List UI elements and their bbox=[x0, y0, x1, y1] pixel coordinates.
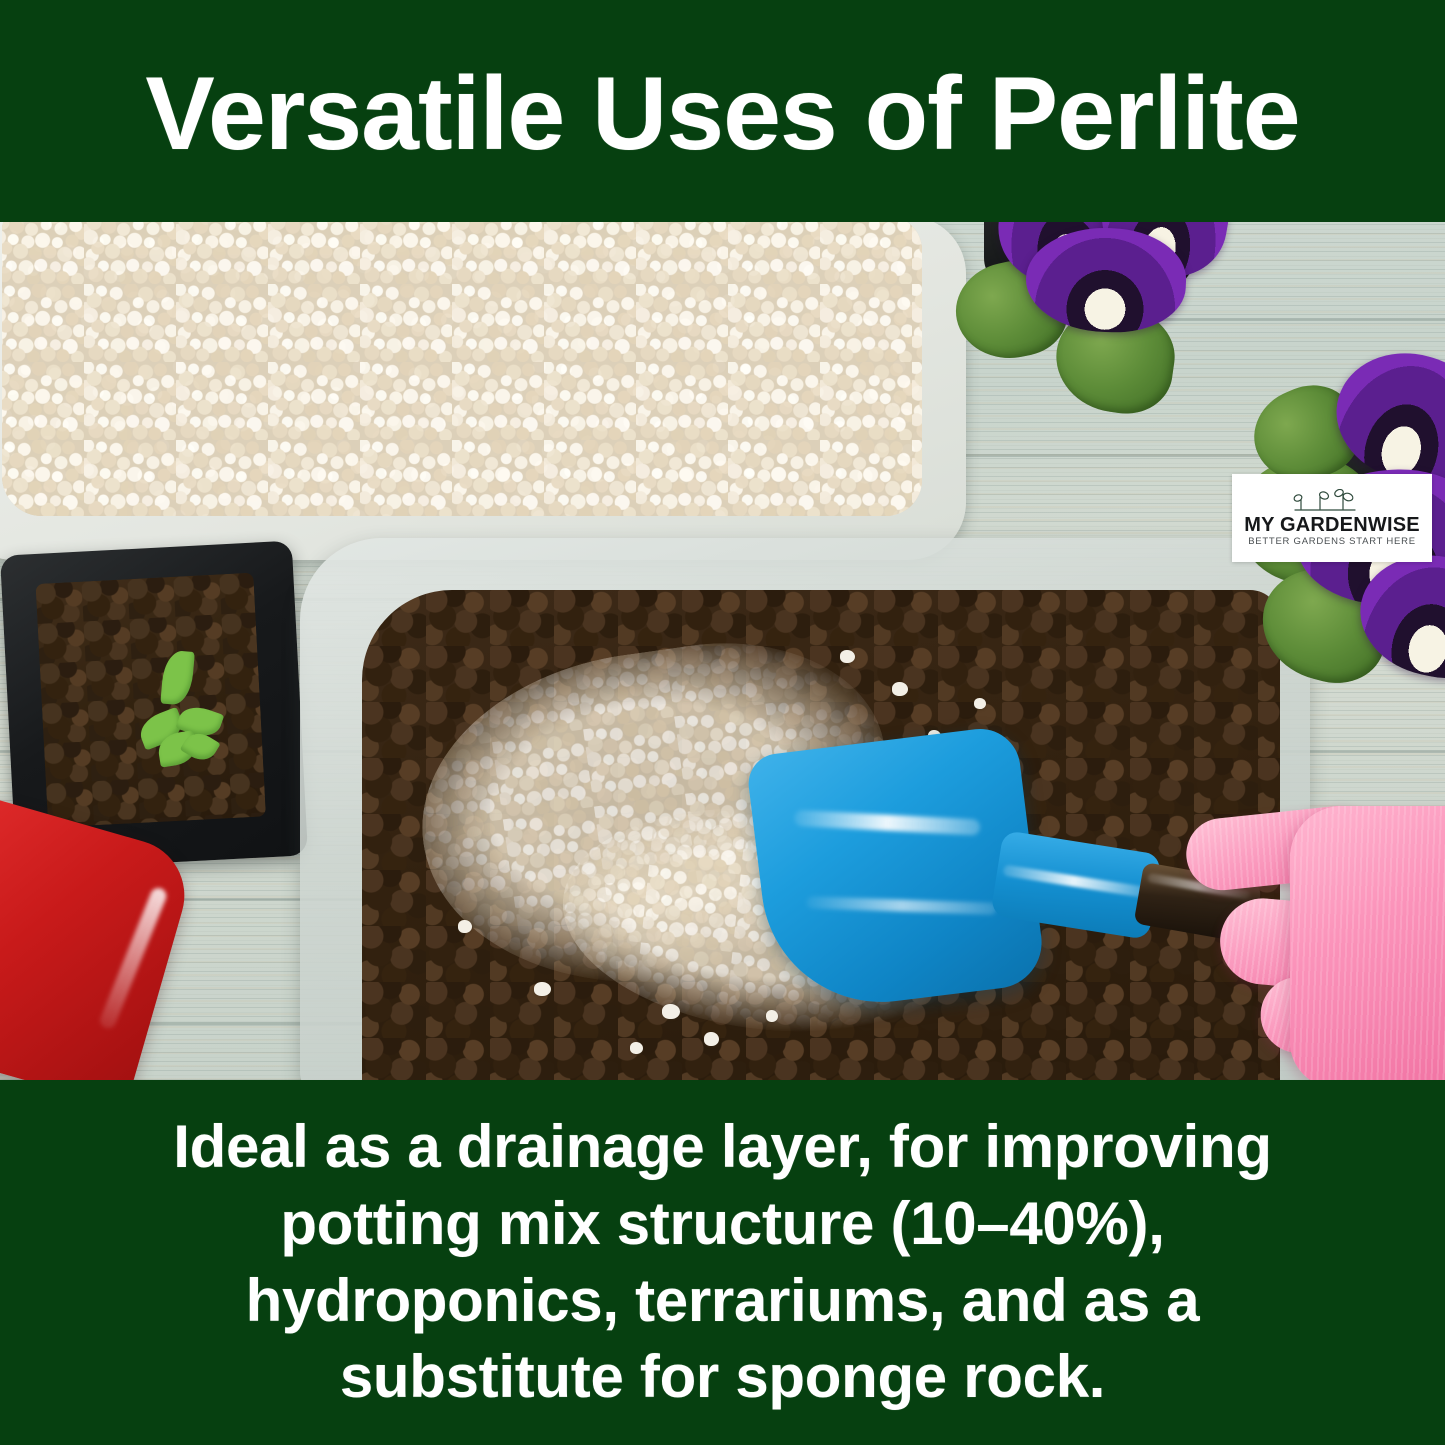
caption-text: Ideal as a drainage layer, for improving… bbox=[103, 1109, 1343, 1416]
perlite-tray bbox=[0, 222, 966, 560]
perlite-speck bbox=[974, 698, 986, 709]
pink-glove bbox=[1186, 798, 1445, 1080]
three-sprouts-icon bbox=[1293, 489, 1371, 513]
perlite-speck bbox=[704, 1032, 719, 1046]
perlite-texture-fine bbox=[2, 222, 922, 516]
page-title: Versatile Uses of Perlite bbox=[145, 56, 1299, 166]
caption-band: Ideal as a drainage layer, for improving… bbox=[0, 1080, 1445, 1445]
perlite-speck bbox=[892, 682, 908, 696]
logo-tagline: BETTER GARDENS START HERE bbox=[1248, 537, 1416, 547]
perlite-speck bbox=[534, 982, 551, 996]
perlite-infographic: Versatile Uses of Perlite bbox=[0, 0, 1445, 1445]
photo-panel: MY GARDENWISE BETTER GARDENS START HERE bbox=[0, 222, 1445, 1080]
perlite-speck bbox=[630, 1042, 643, 1054]
blue-trowel bbox=[760, 722, 1230, 1022]
seedling-sprout bbox=[135, 649, 225, 771]
perlite-speck bbox=[458, 920, 472, 933]
perlite-speck bbox=[662, 1004, 680, 1019]
header-band: Versatile Uses of Perlite bbox=[0, 0, 1445, 222]
logo-name: MY GARDENWISE bbox=[1244, 515, 1420, 535]
glove-palm bbox=[1290, 806, 1445, 1080]
perlite-speck bbox=[840, 650, 855, 663]
pansy-flower-top bbox=[960, 222, 1260, 418]
perlite-granules bbox=[2, 222, 922, 516]
seedling-tray-soil bbox=[35, 573, 265, 828]
sprout-leaf bbox=[160, 650, 195, 706]
brand-logo[interactable]: MY GARDENWISE BETTER GARDENS START HERE bbox=[1232, 474, 1432, 562]
